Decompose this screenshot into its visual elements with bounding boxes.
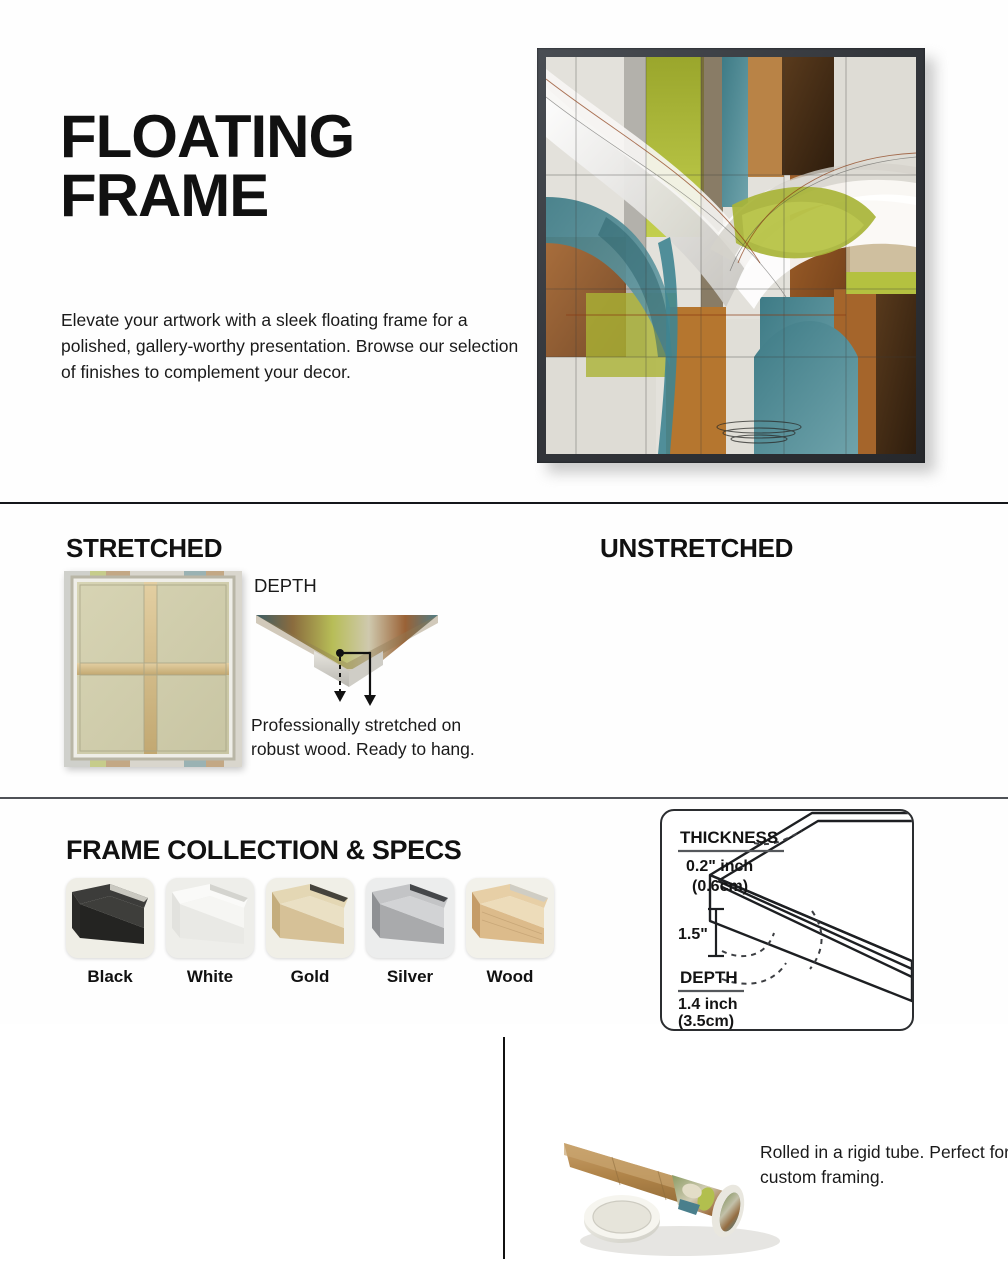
swatch-card[interactable] [366,878,454,958]
stretched-note: Professionally stretched on robust wood.… [251,713,503,761]
collection-heading: FRAME COLLECTION & SPECS [66,835,461,866]
page-title: FLOATING FRAME [60,108,480,226]
abstract-painting-icon [546,57,916,454]
frame-swatch-row: Black White [66,878,554,987]
shipping-options-section: STRETCHED UNSTRETCHED [0,503,1008,798]
unstretched-note: Rolled in a rigid tube. Perfect for cust… [760,1140,1008,1190]
frame-swatch-wood[interactable]: Wood [466,878,554,987]
swatch-card[interactable] [66,878,154,958]
framed-artwork [537,48,925,463]
swatch-card[interactable] [266,878,354,958]
thickness-value-cm: (0.6cm) [692,878,748,895]
frame-corner-icon [166,878,254,958]
swatch-label: White [166,967,254,987]
swatch-label: Wood [466,967,554,987]
frame-swatch-white[interactable]: White [166,878,254,987]
rolled-tube-photo [560,1081,785,1266]
artwork-canvas [546,57,916,454]
title-line-1: FLOATING [60,103,354,170]
hero-description: Elevate your artwork with a sleek floati… [61,308,531,386]
depth-value-in: 1.4 inch [678,996,738,1013]
canvas-back-icon [64,571,242,767]
shipping-tube-icon [560,1081,785,1266]
swatch-card[interactable] [166,878,254,958]
vertical-divider [503,1037,505,1259]
depth-label: DEPTH [680,968,738,987]
depth-label: DEPTH [254,575,317,597]
unstretched-heading: UNSTRETCHED [600,533,793,564]
thickness-value-in: 0.2" inch [686,858,753,875]
frame-corner-icon [266,878,354,958]
swatch-card[interactable] [466,878,554,958]
swatch-label: Black [66,967,154,987]
title-line-2: FRAME [60,167,480,226]
hero-section: FLOATING FRAME Elevate your artwork with… [0,0,1008,503]
frame-swatch-black[interactable]: Black [66,878,154,987]
frame-swatch-silver[interactable]: Silver [366,878,454,987]
depth-measure-icon [252,603,442,708]
frame-swatch-gold[interactable]: Gold [266,878,354,987]
depth-value-cm: (3.5cm) [678,1013,734,1029]
stretched-canvas-photo [64,571,242,767]
swatch-label: Silver [366,967,454,987]
infographic-page: FLOATING FRAME Elevate your artwork with… [0,0,1008,1024]
frame-dimensions-icon: THICKNESS 0.2" inch (0.6cm) 1.5" DEPTH 1… [662,811,912,1029]
canvas-depth-diagram [252,603,442,708]
stretched-heading: STRETCHED [66,533,222,564]
height-value: 1.5" [678,926,708,943]
frame-corner-icon [466,878,554,958]
frame-collection-section: FRAME COLLECTION & SPECS Black [0,799,1008,1024]
floating-frame-border [537,48,925,463]
frame-corner-icon [366,878,454,958]
frame-corner-icon [66,878,154,958]
thickness-label: THICKNESS [680,828,778,847]
frame-spec-diagram: THICKNESS 0.2" inch (0.6cm) 1.5" DEPTH 1… [660,809,914,1031]
swatch-label: Gold [266,967,354,987]
